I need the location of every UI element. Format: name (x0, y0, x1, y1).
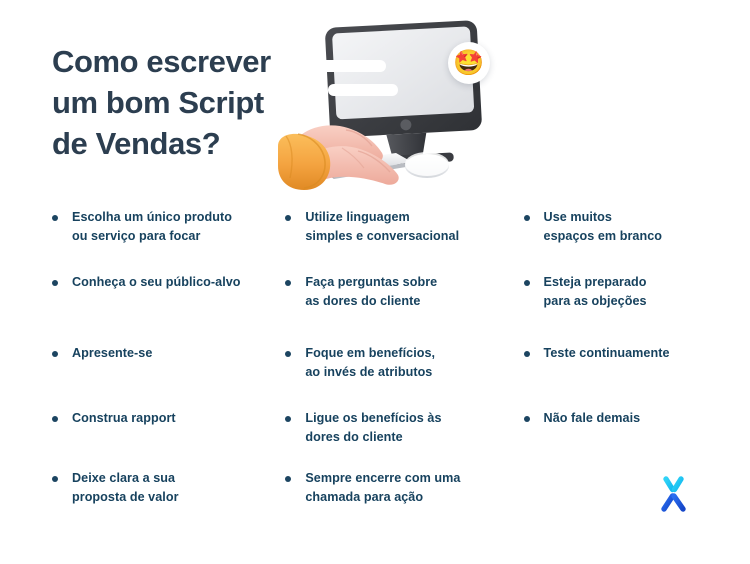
list-item-label: Foque em benefícios, ao invés de atribut… (305, 344, 435, 381)
list-item-label: Faça perguntas sobre as dores do cliente (305, 273, 437, 310)
list-item: Utilize linguagem simples e conversacion… (285, 208, 459, 245)
bullet-dot-icon (285, 215, 291, 221)
bullet-dot-icon (52, 476, 58, 482)
bullet-dot-icon (285, 280, 291, 286)
bullet-dot-icon (285, 351, 291, 357)
bullet-dot-icon (52, 215, 58, 221)
bullet-columns: Escolha um único produto ou serviço para… (52, 200, 718, 530)
brand-logo (645, 464, 701, 520)
list-item: Ligue os benefícios às dores do cliente (285, 409, 441, 446)
list-item: Use muitos espaços em branco (524, 208, 662, 245)
list-item-label: Utilize linguagem simples e conversacion… (305, 208, 459, 245)
list-item: Teste continuamente (524, 344, 670, 363)
list-item-label: Teste continuamente (544, 344, 670, 363)
bullet-dot-icon (285, 416, 291, 422)
bullet-dot-icon (524, 215, 530, 221)
bullet-dot-icon (52, 280, 58, 286)
bullet-dot-icon (524, 351, 530, 357)
list-item: Faça perguntas sobre as dores do cliente (285, 273, 437, 310)
list-item: Construa rapport (52, 409, 176, 428)
list-item-label: Use muitos espaços em branco (544, 208, 662, 245)
mouse-icon (405, 152, 449, 178)
list-item: Apresente-se (52, 344, 152, 363)
list-item: Não fale demais (524, 409, 641, 428)
bullet-dot-icon (52, 351, 58, 357)
star-struck-emoji-badge: 🤩 (448, 42, 490, 84)
list-item-label: Esteja preparado para as objeções (544, 273, 647, 310)
list-item-label: Apresente-se (72, 344, 152, 363)
list-item-label: Não fale demais (544, 409, 641, 428)
list-item-label: Escolha um único produto ou serviço para… (72, 208, 232, 245)
bullet-dot-icon (524, 280, 530, 286)
bullet-column-2: Utilize linguagem simples e conversacion… (285, 200, 523, 530)
bullet-dot-icon (285, 476, 291, 482)
list-item: Sempre encerre com uma chamada para ação (285, 469, 460, 506)
page-title: Como escrever um bom Script de Vendas? (52, 42, 322, 165)
list-item-label: Deixe clara a sua proposta de valor (72, 469, 179, 506)
bullet-column-1: Escolha um único produto ou serviço para… (52, 200, 285, 530)
list-item-label: Sempre encerre com uma chamada para ação (305, 469, 460, 506)
list-item: Conheça o seu público-alvo (52, 273, 241, 292)
list-item: Foque em benefícios, ao invés de atribut… (285, 344, 435, 381)
list-item-label: Ligue os benefícios às dores do cliente (305, 409, 441, 446)
bullet-dot-icon (524, 416, 530, 422)
list-item-label: Conheça o seu público-alvo (72, 273, 241, 292)
bullet-dot-icon (52, 416, 58, 422)
list-item: Deixe clara a sua proposta de valor (52, 469, 179, 506)
list-item-label: Construa rapport (72, 409, 176, 428)
list-item: Esteja preparado para as objeções (524, 273, 647, 310)
list-item: Escolha um único produto ou serviço para… (52, 208, 232, 245)
